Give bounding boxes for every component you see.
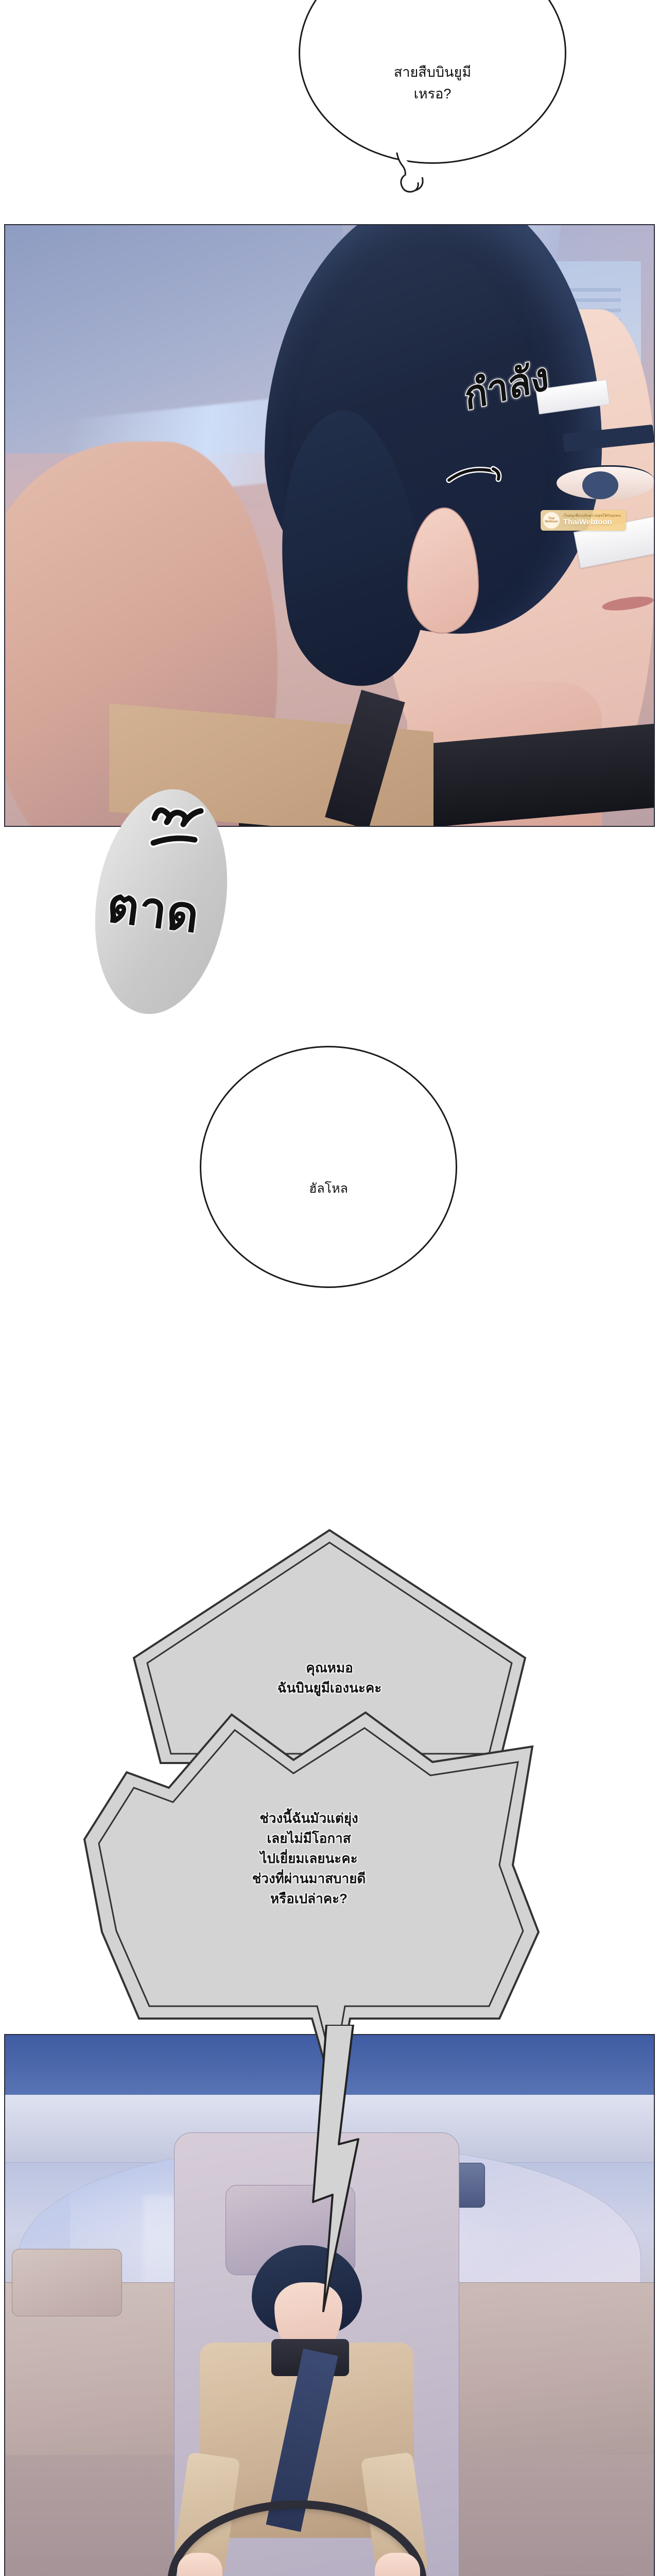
speech-bubble-1-tail: [389, 148, 436, 198]
speech-bubble-2: ฮัลโหล: [200, 1046, 457, 1288]
bubble-4-text: ช่วงนี้ฉันมัวแต่ยุ่ง เลยไม่มีโอกาส ไปเยี…: [77, 1808, 541, 1909]
panel1-pupil: [582, 471, 618, 499]
bubble-1-line-1: สายสืบบินยูมี: [394, 62, 471, 83]
speech-bubble-1: สายสืบบินยูมี เหรอ?: [299, 0, 566, 164]
bubble-4-line-5: หรือเปล่าคะ?: [77, 1889, 541, 1909]
bubble-3-text: คุณหมอ ฉันบินยูมีเองนะคะ: [129, 1658, 530, 1698]
webtoon-page: สายสืบบินยูมี เหรอ? กำลัง: [0, 0, 659, 2576]
bubble-4-lightning-tail: [309, 2025, 371, 2316]
bubble-4-line-2: เลยไม่มีโอกาส: [77, 1828, 541, 1849]
bubble-3-line-1: คุณหมอ: [129, 1658, 530, 1678]
watermark-panel-1: Thai Webtoon เว็บสนุกที่แบ่งปันความสุขให…: [541, 510, 626, 531]
bubble-1-line-2: เหรอ?: [394, 83, 471, 105]
bubble-4-line-3: ไปเยี่ยมเลยนะคะ: [77, 1849, 541, 1869]
sfx-tad-stroke: [148, 798, 241, 852]
panel2-rear-headrest: [12, 2249, 122, 2316]
bubble-4-line-1: ช่วงนี้ฉันมัวแต่ยุ่ง: [77, 1808, 541, 1828]
speech-bubble-1-text: สายสืบบินยูมี เหรอ?: [394, 62, 471, 105]
bubble-3-line-2: ฉันบินยูมีเองนะคะ: [129, 1678, 530, 1698]
sfx-kamlang-underline: [446, 453, 513, 492]
watermark-brand: ThaiWebtoon: [563, 518, 621, 527]
watermark-badge-line2: Webtoon: [545, 520, 558, 523]
watermark-badge: Thai Webtoon: [543, 512, 560, 529]
bubble-2-line-1: ฮัลโหล: [309, 1179, 348, 1199]
bubble-4-line-4: ช่วงที่ผ่านมาสบายดี: [77, 1869, 541, 1889]
